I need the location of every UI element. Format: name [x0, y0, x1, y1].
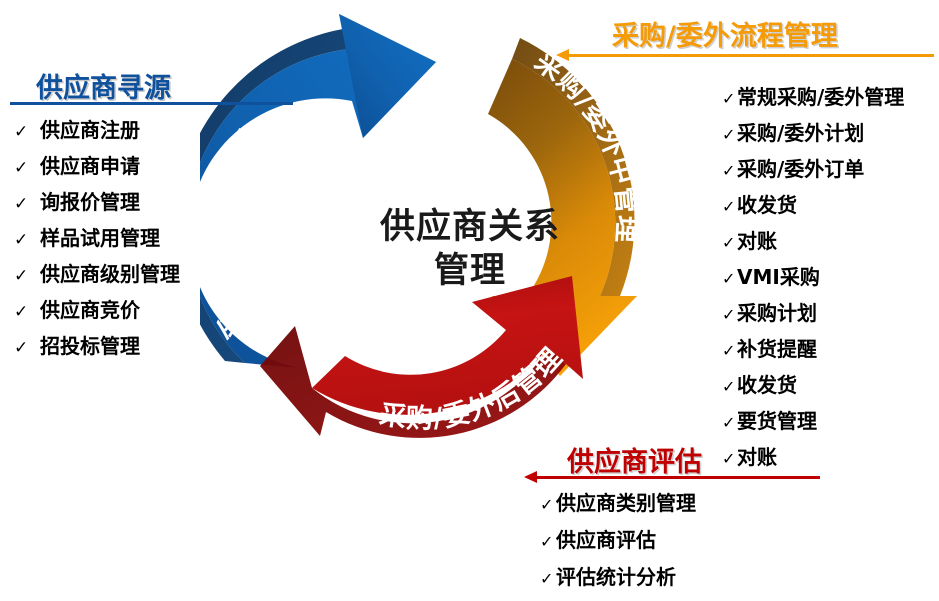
check-icon: ✓: [722, 341, 737, 360]
check-icon: ✓: [722, 305, 737, 324]
list-item-label: 供应商类别管理: [556, 487, 696, 516]
check-icon: ✓: [722, 449, 737, 468]
list-item[interactable]: ✓ 招投标管理: [14, 330, 180, 366]
list-item-label: 招投标管理: [40, 330, 140, 359]
center-title: 供应商关系 管理: [355, 205, 585, 293]
section-heading-evaluation: 供应商评估: [567, 440, 702, 479]
list-item[interactable]: ✓ 供应商类别管理: [540, 487, 696, 524]
section-heading-sourcing: 供应商寻源: [36, 66, 171, 105]
check-icon: ✓: [540, 532, 556, 551]
list-item[interactable]: ✓ 采购/委外订单: [722, 153, 904, 189]
list-item[interactable]: ✓ 对账: [722, 441, 904, 477]
arrow-shaft: [566, 54, 934, 57]
check-icon: ✓: [14, 158, 40, 178]
section-heading-process: 采购/委外流程管理: [612, 14, 838, 53]
list-item-label: 对账: [737, 441, 777, 470]
center-title-line1: 供应商关系: [355, 205, 585, 249]
arc-red-post-purchase: 采购/委外后管理: [260, 276, 583, 438]
check-icon: ✓: [540, 569, 556, 588]
list-item-label: 供应商申请: [40, 150, 140, 179]
check-icon: ✓: [14, 266, 40, 286]
list-item[interactable]: ✓ 供应商注册: [14, 114, 180, 150]
list-item[interactable]: ✓ 询报价管理: [14, 186, 180, 222]
sourcing-item-list: ✓ 供应商注册 ✓ 供应商申请 ✓ 询报价管理 ✓ 样品试用管理 ✓ 供应商级别…: [14, 114, 180, 366]
process-item-list: ✓ 常规采购/委外管理 ✓ 采购/委外计划 ✓ 采购/委外订单 ✓ 收发货 ✓ …: [722, 81, 904, 477]
list-item-label: 采购计划: [737, 297, 817, 326]
sourcing-underline: [10, 102, 293, 105]
list-item-label: 询报价管理: [40, 186, 140, 215]
list-item[interactable]: ✓ 供应商申请: [14, 150, 180, 186]
list-item[interactable]: ✓ 对账: [722, 225, 904, 261]
list-item[interactable]: ✓ 供应商评估: [540, 524, 696, 561]
check-icon: ✓: [722, 233, 737, 252]
check-icon: ✓: [722, 377, 737, 396]
list-item[interactable]: ✓ VMI采购: [722, 261, 904, 297]
check-icon: ✓: [722, 161, 737, 180]
center-title-line2: 管理: [355, 249, 585, 293]
list-item-label: 供应商竞价: [40, 294, 140, 323]
supplier-relationship-management-diagram: 采购/委外前管理 采购/委外中管理 采购/委外后管理 供应商关系 管理 供应商寻…: [0, 0, 939, 601]
evaluation-item-list: ✓ 供应商类别管理 ✓ 供应商评估 ✓ 评估统计分析: [540, 487, 696, 598]
list-item-label: 采购/委外订单: [737, 153, 864, 182]
list-item-label: 收发货: [737, 369, 797, 398]
check-icon: ✓: [14, 302, 40, 322]
list-item[interactable]: ✓ 供应商竞价: [14, 294, 180, 330]
list-item[interactable]: ✓ 供应商级别管理: [14, 258, 180, 294]
check-icon: ✓: [722, 89, 737, 108]
check-icon: ✓: [14, 194, 40, 214]
list-item-label: VMI采购: [737, 261, 820, 290]
list-item[interactable]: ✓ 收发货: [722, 369, 904, 405]
list-item[interactable]: ✓ 评估统计分析: [540, 561, 696, 598]
list-item[interactable]: ✓ 补货提醒: [722, 333, 904, 369]
list-item-label: 采购/委外计划: [737, 117, 864, 146]
list-item-label: 要货管理: [737, 405, 817, 434]
check-icon: ✓: [722, 269, 737, 288]
list-item[interactable]: ✓ 采购计划: [722, 297, 904, 333]
list-item-label: 供应商评估: [556, 524, 656, 553]
list-item-label: 供应商级别管理: [40, 258, 180, 287]
list-item-label: 评估统计分析: [556, 561, 676, 590]
list-item[interactable]: ✓ 收发货: [722, 189, 904, 225]
list-item[interactable]: ✓ 采购/委外计划: [722, 117, 904, 153]
list-item-label: 供应商注册: [40, 114, 140, 143]
evaluation-arrow-line: [524, 476, 820, 479]
check-icon: ✓: [14, 338, 40, 358]
arc-blue-pre-purchase: 采购/委外前管理: [200, 14, 436, 368]
list-item[interactable]: ✓ 常规采购/委外管理: [722, 81, 904, 117]
list-item[interactable]: ✓ 要货管理: [722, 405, 904, 441]
check-icon: ✓: [722, 413, 737, 432]
list-item[interactable]: ✓ 样品试用管理: [14, 222, 180, 258]
process-arrow-line: [556, 54, 934, 57]
list-item-label: 补货提醒: [737, 333, 817, 362]
check-icon: ✓: [722, 125, 737, 144]
list-item-label: 对账: [737, 225, 777, 254]
check-icon: ✓: [14, 122, 40, 142]
arrow-shaft: [534, 476, 820, 479]
check-icon: ✓: [14, 230, 40, 250]
check-icon: ✓: [722, 197, 737, 216]
list-item-label: 样品试用管理: [40, 222, 160, 251]
list-item-label: 收发货: [737, 189, 797, 218]
check-icon: ✓: [540, 495, 556, 514]
list-item-label: 常规采购/委外管理: [737, 81, 904, 110]
